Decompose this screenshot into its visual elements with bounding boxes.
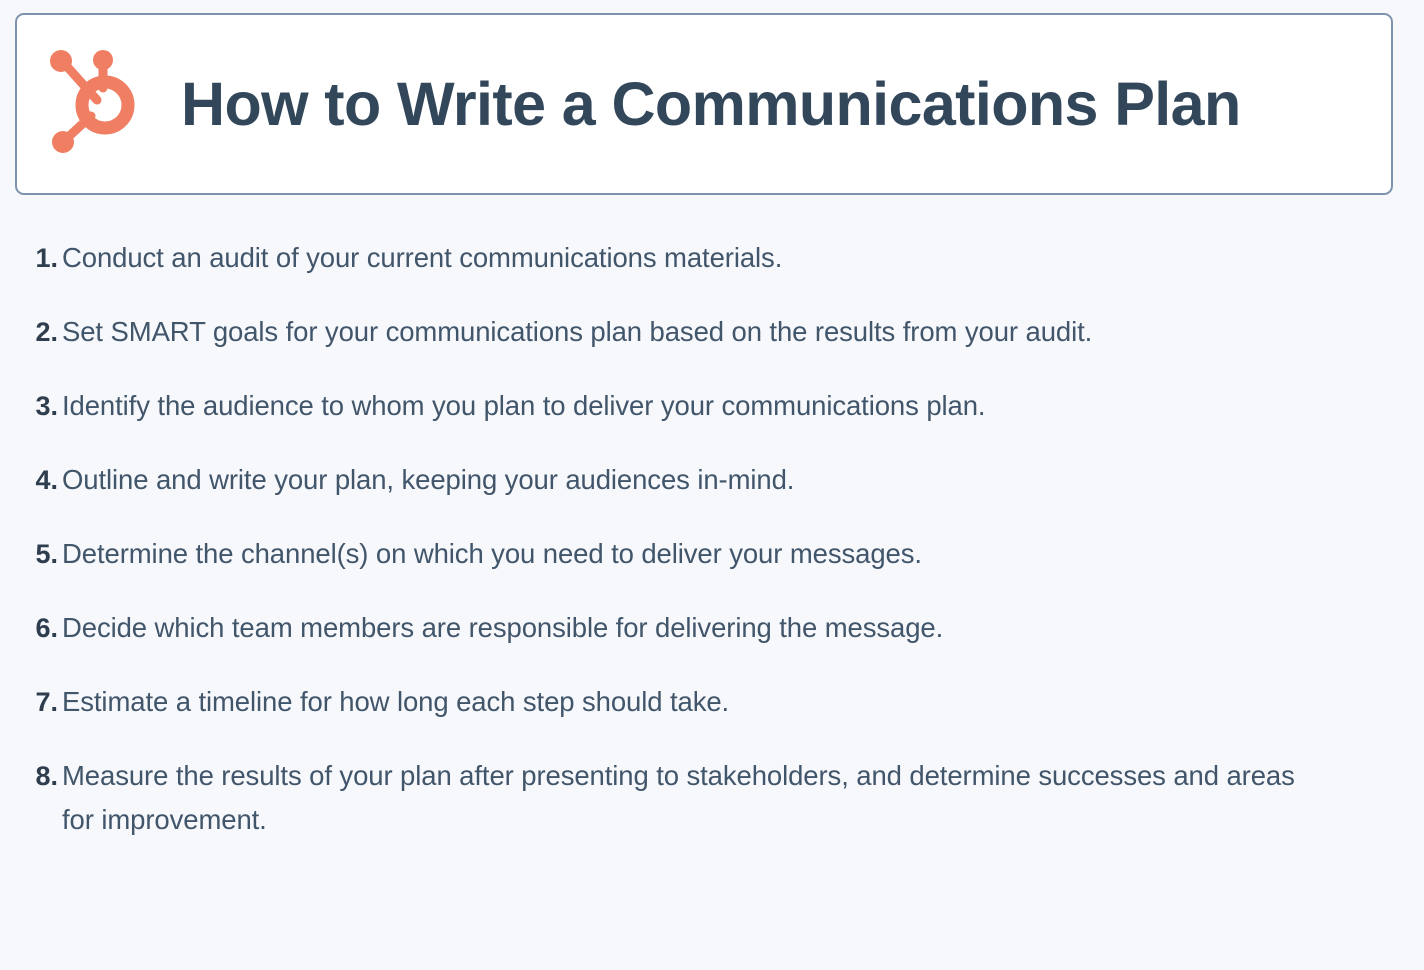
step-number: 7. <box>18 680 62 724</box>
step-text: Determine the channel(s) on which you ne… <box>62 532 1312 576</box>
list-item: 5. Determine the channel(s) on which you… <box>0 532 1424 576</box>
title-card: How to Write a Communications Plan <box>15 13 1393 195</box>
step-number: 2. <box>18 310 62 354</box>
hubspot-sprocket-logo-icon <box>45 50 153 158</box>
list-item: 6. Decide which team members are respons… <box>0 606 1424 650</box>
list-item: 8. Measure the results of your plan afte… <box>0 754 1424 842</box>
step-text: Identify the audience to whom you plan t… <box>62 384 1312 428</box>
step-text: Estimate a timeline for how long each st… <box>62 680 1312 724</box>
list-item: 1. Conduct an audit of your current comm… <box>0 236 1424 280</box>
step-number: 6. <box>18 606 62 650</box>
step-number: 1. <box>18 236 62 280</box>
step-number: 8. <box>18 754 62 798</box>
list-item: 2. Set SMART goals for your communicatio… <box>0 310 1424 354</box>
page-title: How to Write a Communications Plan <box>181 72 1241 136</box>
step-number: 4. <box>18 458 62 502</box>
step-number: 3. <box>18 384 62 428</box>
list-item: 4. Outline and write your plan, keeping … <box>0 458 1424 502</box>
step-text: Decide which team members are responsibl… <box>62 606 1312 650</box>
step-text: Outline and write your plan, keeping you… <box>62 458 1312 502</box>
step-text: Set SMART goals for your communications … <box>62 310 1312 354</box>
page-root: How to Write a Communications Plan 1. Co… <box>0 0 1424 970</box>
steps-list: 1. Conduct an audit of your current comm… <box>0 236 1424 872</box>
list-item: 7. Estimate a timeline for how long each… <box>0 680 1424 724</box>
step-number: 5. <box>18 532 62 576</box>
list-item: 3. Identify the audience to whom you pla… <box>0 384 1424 428</box>
step-text: Conduct an audit of your current communi… <box>62 236 1312 280</box>
step-text: Measure the results of your plan after p… <box>62 754 1312 842</box>
